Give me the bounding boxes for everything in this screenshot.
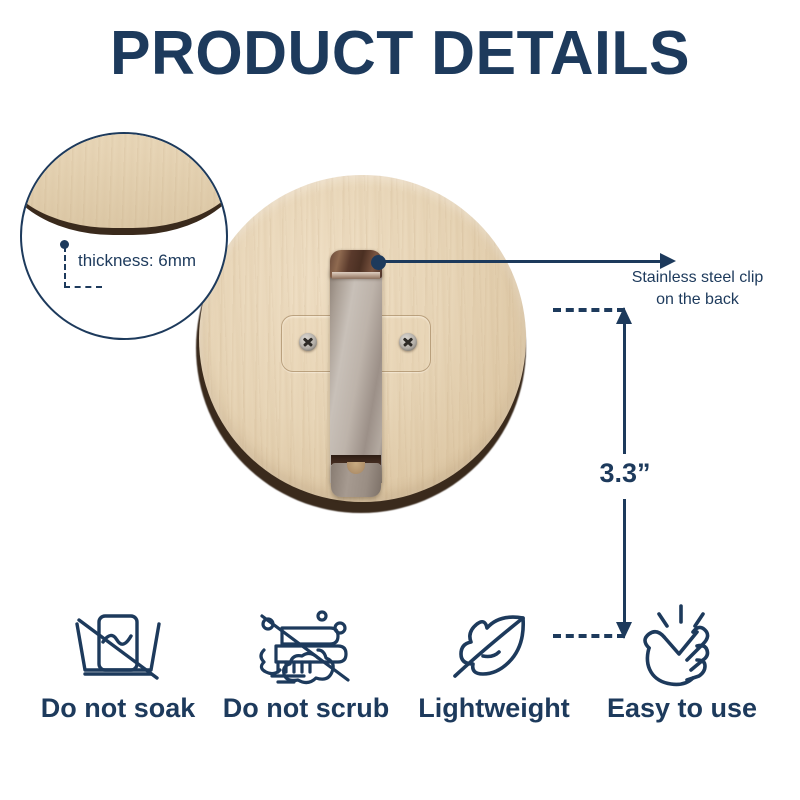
feature-label-do-not-scrub: Do not scrub [223,692,390,724]
thickness-detail-magnifier [20,132,228,340]
callout-text-line-1: Stainless steel clip [632,269,764,286]
feature-easy-to-use: Easy to use [588,600,776,724]
thickness-leader-vertical [64,246,67,288]
thickness-label: thickness: 6mm [78,250,196,272]
stainless-steel-clip-body [330,268,382,483]
page-title: PRODUCT DETAILS [8,18,792,90]
screw-left [299,333,317,351]
callout-text: Stainless steel clip on the back [600,267,795,311]
screw-right [399,333,417,351]
feature-do-not-soak: Do not soak [24,600,212,724]
feature-do-not-scrub: Do not scrub [212,600,400,724]
feather-icon [439,600,549,692]
clip-top-sheen [332,272,380,279]
feature-lightweight: Lightweight [400,600,588,724]
dimension-line-upper [623,322,626,454]
callout-leader-line [383,260,665,263]
magnified-board-edge [20,132,228,235]
feature-row: Do not soak Do not scrub [0,600,800,760]
no-scrub-icon [246,600,366,692]
feature-label-lightweight: Lightweight [418,692,569,724]
product-image-stage: thickness: 6mm Stainless steel clip on t… [0,110,800,580]
callout-text-line-2: on the back [656,291,739,308]
thickness-leader-horizontal [64,286,102,288]
no-soak-icon [63,600,173,692]
dimension-label: 3.3” [580,458,670,489]
feature-label-do-not-soak: Do not soak [41,692,196,724]
tap-hand-icon [627,600,737,692]
feature-label-easy-to-use: Easy to use [607,692,757,724]
